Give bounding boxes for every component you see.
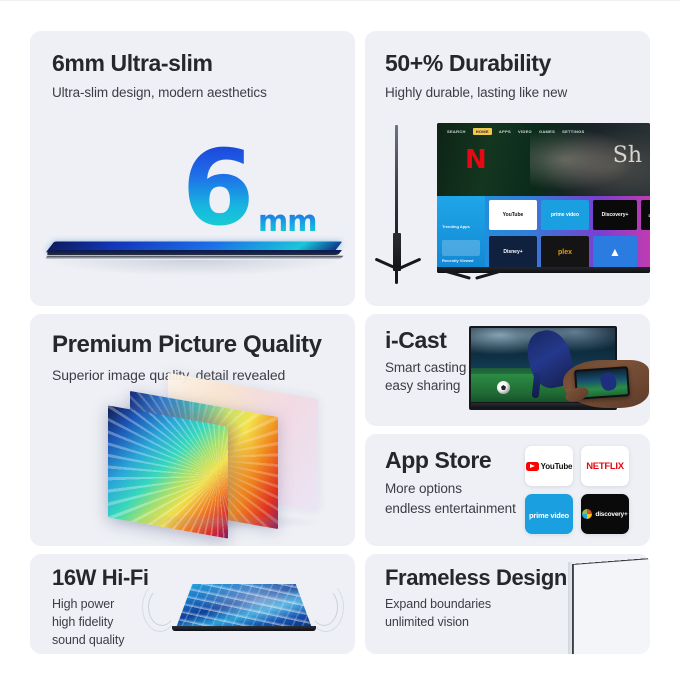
- sidebar-label-trending: Trending Apps: [442, 224, 470, 229]
- sound-ripple-left-inner: [148, 588, 176, 626]
- card-subtitle: Smart casting easy sharing: [385, 359, 481, 395]
- panel-edge: [46, 250, 342, 255]
- tv-app-row-area: Trending Apps Recently Viewed YouTube pr…: [437, 196, 650, 273]
- tv-tile-dazn[interactable]: DAZN: [641, 200, 650, 230]
- ultra-slim-illustration: 6 mm: [30, 126, 355, 306]
- panel-shadow: [114, 514, 324, 530]
- netflix-n-icon: N: [465, 147, 487, 173]
- tv-tile-plex[interactable]: plex: [541, 236, 589, 268]
- app-icon-grid: YouTube NETFLIX prime video discovery+: [525, 446, 637, 536]
- picture-quality-illustration: [108, 386, 338, 536]
- tv-tile-discovery-plus[interactable]: Discovery+: [593, 200, 637, 230]
- smartphone-player: [599, 371, 618, 392]
- card-ultra-slim[interactable]: 6mm Ultra-slim Ultra-slim design, modern…: [30, 31, 355, 306]
- card-subtitle: Expand boundaries unlimited vision: [385, 596, 525, 632]
- i-cast-illustration: [469, 326, 647, 416]
- card-title: 50+% Durability: [385, 51, 551, 76]
- card-app-store[interactable]: App Store More options endless entertain…: [365, 434, 650, 546]
- tv-sidebar: Trending Apps Recently Viewed: [437, 196, 485, 273]
- youtube-play-icon: [526, 462, 539, 471]
- app-icon-prime-video[interactable]: prime video: [525, 494, 573, 534]
- card-subtitle: More options endless entertainment: [385, 479, 535, 518]
- app-label-youtube: YouTube: [541, 462, 573, 471]
- frameless-panel-corner: [572, 554, 650, 654]
- menu-item-apps[interactable]: APPS: [499, 129, 511, 134]
- sidebar-label-recent: Recently Viewed: [442, 258, 474, 263]
- panel-base: [45, 256, 344, 260]
- sidebar-chip: [442, 240, 480, 256]
- discovery-globe-icon: [582, 509, 592, 519]
- tv-tile-disney-plus[interactable]: Disney+: [489, 236, 537, 268]
- card-frameless-design[interactable]: Frameless Design Expand boundaries unlim…: [365, 554, 650, 654]
- menu-item-games[interactable]: GAMES: [539, 129, 555, 134]
- speaker-base: [172, 626, 316, 631]
- app-icon-youtube[interactable]: YouTube: [525, 446, 573, 486]
- app-label-netflix: NETFLIX: [586, 461, 623, 472]
- card-title: 16W Hi-Fi: [52, 566, 149, 590]
- card-title: i-Cast: [385, 328, 447, 353]
- app-icon-netflix[interactable]: NETFLIX: [581, 446, 629, 486]
- tv-hero-banner: N Sh SEARCH HOME APPS VIDEO GAMES SETTIN…: [437, 123, 650, 196]
- feature-card-grid: 6mm Ultra-slim Ultra-slim design, modern…: [0, 1, 680, 681]
- wave-texture: [176, 584, 312, 628]
- card-title: Premium Picture Quality: [52, 332, 322, 358]
- card-subtitle: Ultra-slim design, modern aesthetics: [52, 84, 267, 102]
- card-title: 6mm Ultra-slim: [52, 51, 213, 76]
- card-durability[interactable]: 50+% Durability Highly durable, lasting …: [365, 31, 650, 306]
- card-hi-fi[interactable]: 16W Hi-Fi High power high fidelity sound…: [30, 554, 355, 654]
- panel-shadow: [44, 260, 344, 276]
- frameless-illustration: [560, 554, 650, 654]
- menu-item-home[interactable]: HOME: [473, 128, 492, 135]
- card-subtitle: Highly durable, lasting like new: [385, 84, 567, 102]
- menu-item-video[interactable]: VIDEO: [518, 129, 532, 134]
- thickness-number: 6: [182, 136, 251, 240]
- tv-tile-apple-tv[interactable]: ▲: [593, 236, 637, 268]
- thickness-unit: mm: [258, 207, 316, 236]
- card-title: App Store: [385, 448, 491, 473]
- card-i-cast[interactable]: i-Cast Smart casting easy sharing: [365, 314, 650, 426]
- menu-item-settings[interactable]: SETTINGS: [562, 129, 584, 134]
- tv-tile-youtube[interactable]: YouTube: [489, 200, 537, 230]
- soccer-ball: [497, 381, 510, 394]
- tv-tile-prime-video[interactable]: prime video: [541, 200, 589, 230]
- speaker-panel: [176, 584, 312, 628]
- tv-top-menu: SEARCH HOME APPS VIDEO GAMES SETTINGS: [437, 127, 650, 136]
- durability-illustration: N Sh SEARCH HOME APPS VIDEO GAMES SETTIN…: [365, 123, 650, 306]
- app-label-prime-video: prime video: [529, 511, 569, 520]
- side-leg-center: [395, 268, 398, 284]
- side-panel: [395, 125, 398, 243]
- sound-ripple-right-inner: [310, 588, 338, 626]
- app-icon-discovery-plus[interactable]: discovery+: [581, 494, 629, 534]
- hero-title-text: Sh: [613, 145, 642, 167]
- hi-fi-illustration: [142, 570, 344, 640]
- tv-front-stand: [443, 273, 503, 277]
- tv-front-screen: N Sh SEARCH HOME APPS VIDEO GAMES SETTIN…: [437, 123, 650, 273]
- card-title: Frameless Design: [385, 566, 567, 590]
- menu-item-search[interactable]: SEARCH: [447, 129, 466, 134]
- card-picture-quality[interactable]: Premium Picture Quality Superior image q…: [30, 314, 355, 546]
- app-label-discovery-plus: discovery+: [595, 511, 627, 518]
